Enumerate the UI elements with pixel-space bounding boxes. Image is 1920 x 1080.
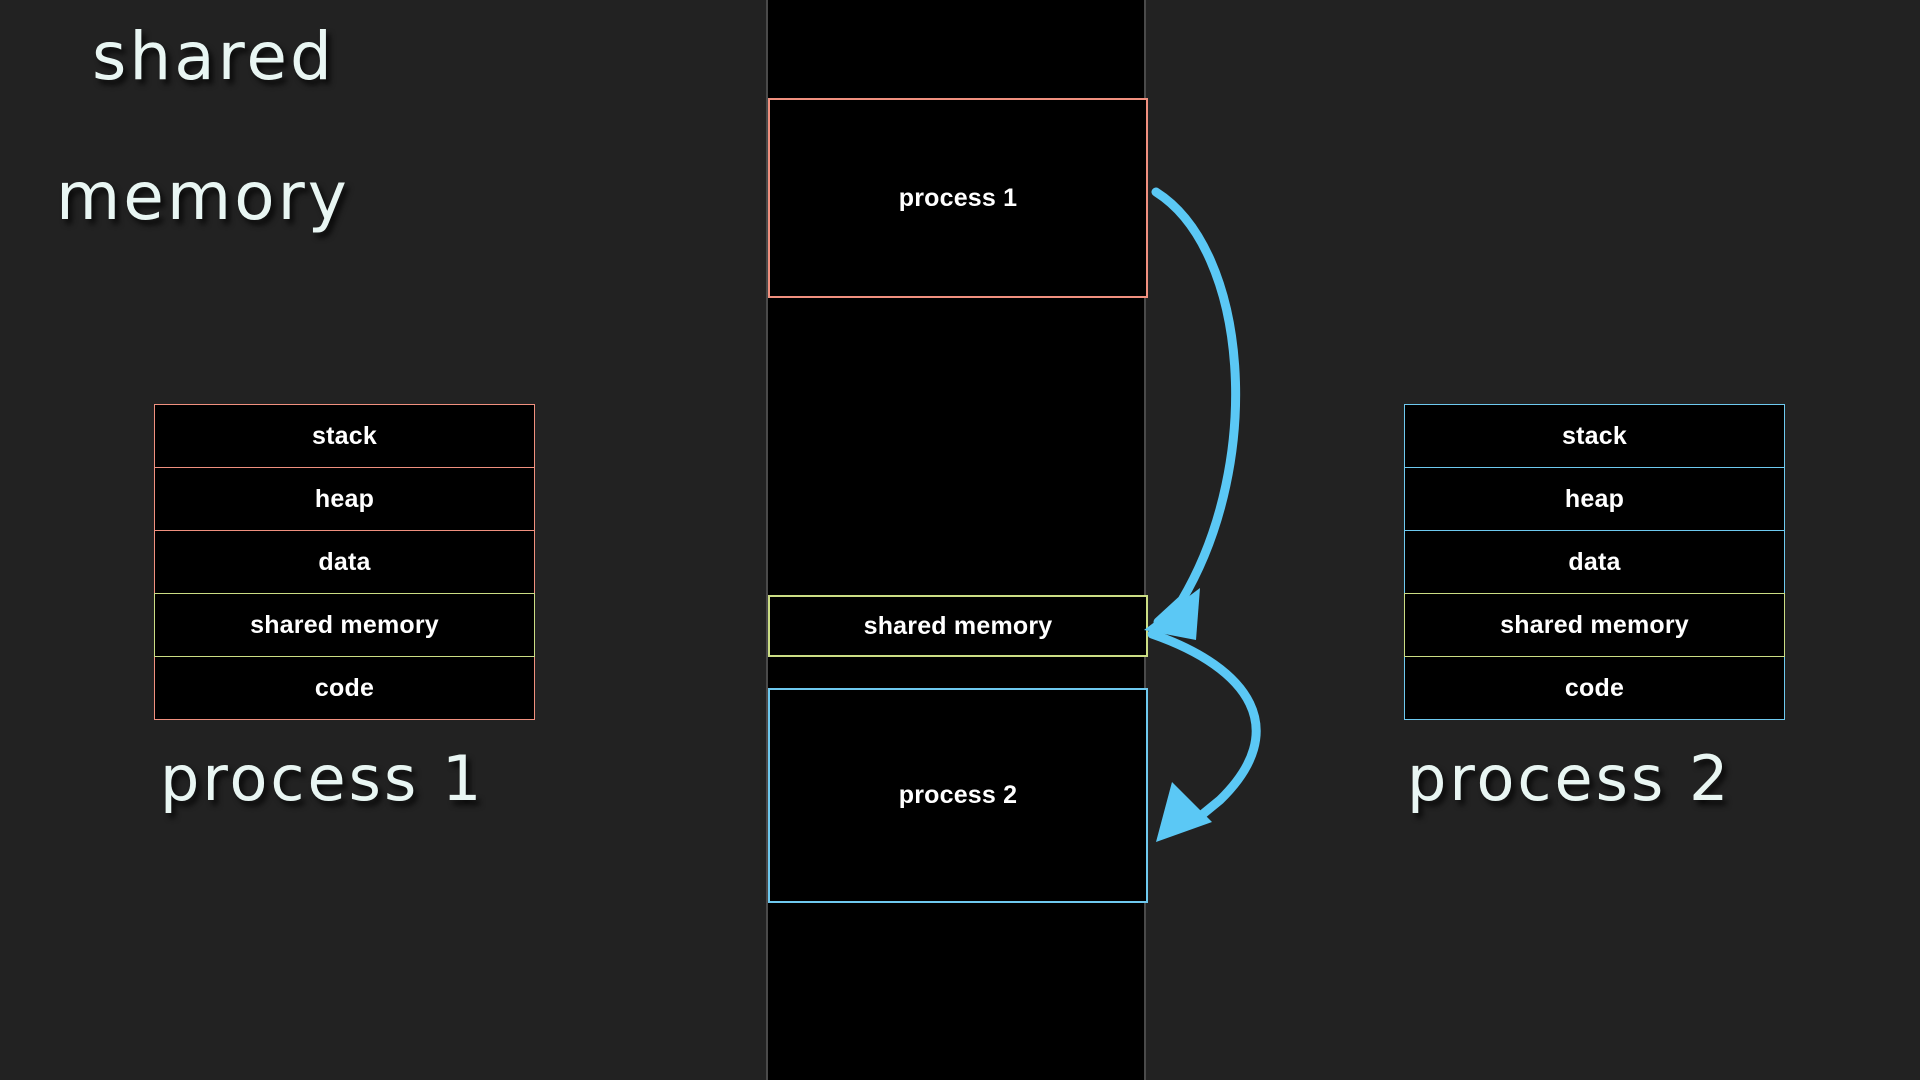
- memory-block-process-2-label: process 2: [899, 781, 1018, 810]
- process-2-caption: process 2: [1407, 742, 1731, 815]
- memory-block-shared-memory-label: shared memory: [864, 612, 1053, 641]
- memory-segment-data-label: data: [1568, 548, 1620, 577]
- memory-segment-shared-memory-label: shared memory: [250, 611, 439, 640]
- physical-memory-column: process 1 shared memory process 2: [766, 0, 1146, 1080]
- memory-segment-data: data: [1404, 530, 1785, 594]
- memory-segment-heap-label: heap: [1565, 485, 1624, 514]
- page-title-line1: shared: [92, 18, 335, 95]
- memory-segment-shared-memory: shared memory: [154, 593, 535, 657]
- memory-segment-stack-label: stack: [312, 422, 377, 451]
- memory-segment-data: data: [154, 530, 535, 594]
- memory-segment-stack: stack: [1404, 404, 1785, 468]
- page-title-line2: memory: [56, 158, 350, 235]
- memory-block-process-1: process 1: [768, 98, 1148, 298]
- memory-block-process-2: process 2: [768, 688, 1148, 903]
- process-2-memory-map: stack heap data shared memory code: [1404, 404, 1785, 720]
- memory-segment-code-label: code: [1565, 674, 1624, 703]
- memory-segment-stack: stack: [154, 404, 535, 468]
- memory-segment-code-label: code: [315, 674, 374, 703]
- arrow-shared-memory-to-process2: [1152, 634, 1256, 842]
- memory-segment-heap: heap: [154, 467, 535, 531]
- memory-segment-data-label: data: [318, 548, 370, 577]
- process-1-memory-map: stack heap data shared memory code: [154, 404, 535, 720]
- diagram-canvas: shared memory process 1 shared memory pr…: [0, 0, 1920, 1080]
- memory-segment-heap-label: heap: [315, 485, 374, 514]
- memory-segment-shared-memory-label: shared memory: [1500, 611, 1689, 640]
- memory-block-process-1-label: process 1: [899, 184, 1018, 213]
- memory-block-shared-memory: shared memory: [768, 595, 1148, 657]
- arrow-process1-to-shared-memory: [1144, 192, 1236, 640]
- memory-segment-code: code: [154, 656, 535, 720]
- memory-segment-code: code: [1404, 656, 1785, 720]
- process-1-caption: process 1: [160, 742, 484, 815]
- memory-segment-stack-label: stack: [1562, 422, 1627, 451]
- memory-segment-heap: heap: [1404, 467, 1785, 531]
- memory-segment-shared-memory: shared memory: [1404, 593, 1785, 657]
